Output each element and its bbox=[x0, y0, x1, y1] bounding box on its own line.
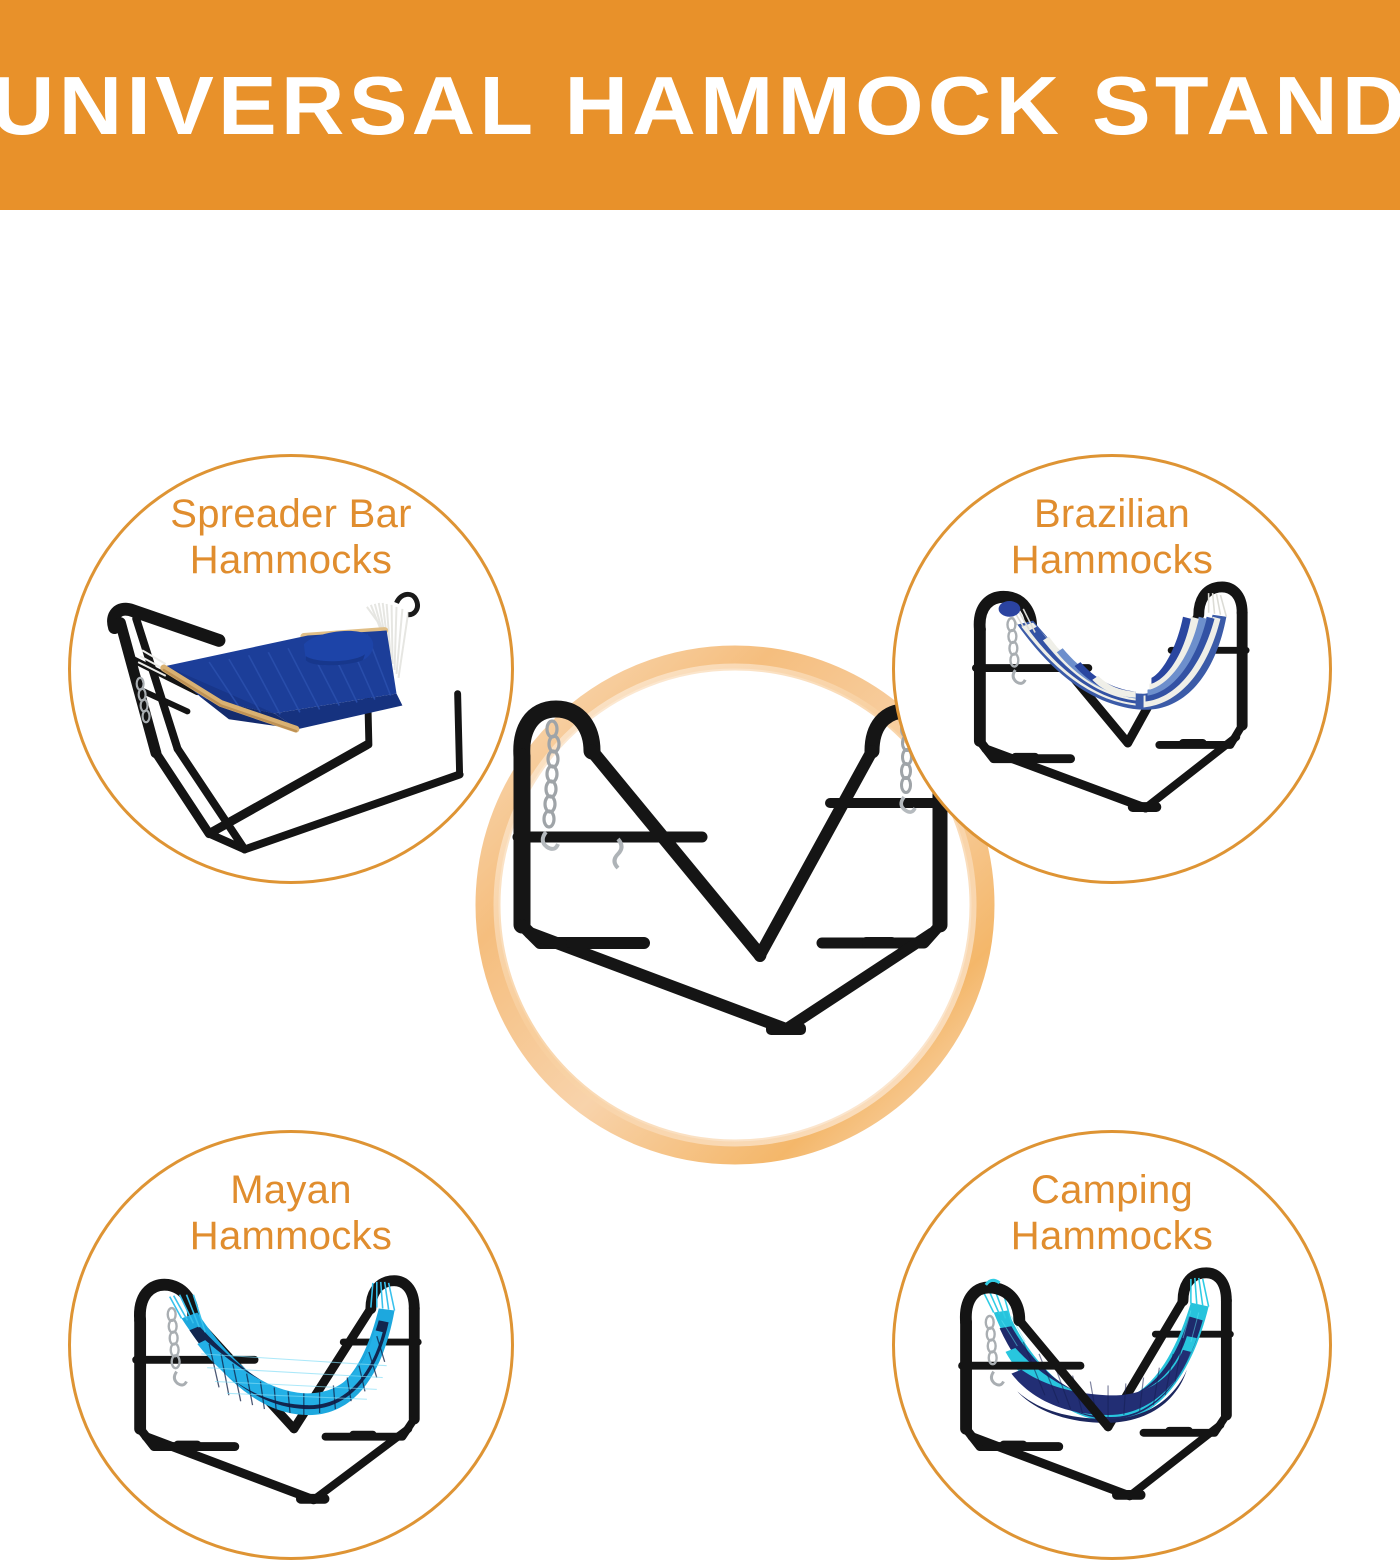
page-title: UNIVERSAL HAMMOCK STAND bbox=[0, 64, 1400, 147]
mayan-hammock-art bbox=[71, 1133, 511, 1557]
brazilian-hammock-art bbox=[895, 457, 1329, 881]
card-brazilian[interactable]: Brazilian Hammocks bbox=[892, 454, 1332, 884]
card-camping[interactable]: Camping Hammocks bbox=[892, 1130, 1332, 1560]
left-s-hook bbox=[615, 839, 622, 868]
left-chain bbox=[543, 721, 559, 849]
header-banner: UNIVERSAL HAMMOCK STAND bbox=[0, 0, 1400, 210]
camping-hammock-art bbox=[895, 1133, 1329, 1557]
spreader-bar-hammock-art bbox=[71, 457, 511, 881]
infographic-stage: Spreader Bar Hammocks bbox=[0, 210, 1400, 1371]
card-spreader-bar[interactable]: Spreader Bar Hammocks bbox=[68, 454, 514, 884]
card-mayan[interactable]: Mayan Hammocks bbox=[68, 1130, 514, 1560]
